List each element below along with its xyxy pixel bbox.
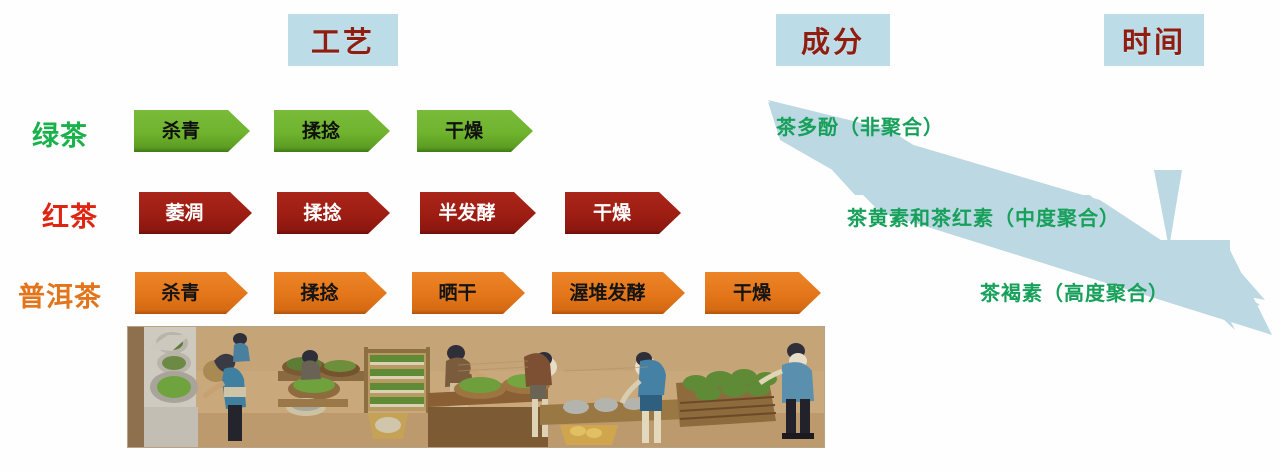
step-black-3-label: 半发酵	[420, 204, 514, 223]
step-black-1-label: 萎凋	[139, 204, 230, 223]
row-label-green-tea: 绿茶	[32, 114, 88, 153]
step-green-1[interactable]: 杀青	[134, 110, 250, 152]
header-time-label: 时间	[1122, 19, 1186, 61]
step-green-3[interactable]: 干燥	[417, 110, 533, 152]
compound-theabrownin-text: 茶褐素（高度聚合）	[980, 281, 1169, 305]
step-puerh-1-label: 杀青	[135, 284, 226, 303]
step-black-2-label: 揉捻	[277, 204, 368, 223]
step-green-1-label: 杀青	[134, 122, 228, 141]
row-label-black-tea-text: 红茶	[42, 202, 98, 233]
step-puerh-5[interactable]: 干燥	[705, 272, 821, 314]
step-green-3-label: 干燥	[417, 122, 511, 141]
step-puerh-3[interactable]: 晒干	[412, 272, 525, 314]
step-green-2[interactable]: 揉捻	[274, 110, 390, 152]
row-label-green-tea-text: 绿茶	[32, 121, 88, 152]
step-black-2[interactable]: 揉捻	[277, 192, 390, 234]
step-puerh-2[interactable]: 揉捻	[274, 272, 387, 314]
header-process-label: 工艺	[311, 19, 375, 61]
header-composition-label: 成分	[801, 19, 865, 61]
compound-polyphenols: 茶多酚（非聚合）	[776, 111, 944, 140]
step-green-2-label: 揉捻	[274, 122, 368, 141]
compound-thearubigins: 茶黄素和茶红素（中度聚合）	[847, 202, 1120, 231]
step-puerh-4-label: 渥堆发酵	[552, 284, 663, 303]
row-label-puerh-tea-text: 普洱茶	[18, 282, 102, 313]
downward-time-arrow	[1152, 170, 1186, 250]
header-composition: 成分	[776, 14, 890, 66]
compound-theabrownin: 茶褐素（高度聚合）	[980, 277, 1169, 306]
step-puerh-2-label: 揉捻	[274, 284, 365, 303]
header-process: 工艺	[288, 14, 398, 66]
row-label-puerh-tea: 普洱茶	[18, 275, 102, 314]
compound-thearubigins-text: 茶黄素和茶红素（中度聚合）	[847, 206, 1120, 230]
step-puerh-5-label: 干燥	[705, 284, 799, 303]
step-black-3[interactable]: 半发酵	[420, 192, 536, 234]
compound-polyphenols-text: 茶多酚（非聚合）	[776, 115, 944, 139]
step-puerh-3-label: 晒干	[412, 284, 503, 303]
step-black-4-label: 干燥	[565, 204, 659, 223]
step-black-4[interactable]: 干燥	[565, 192, 681, 234]
row-label-black-tea: 红茶	[42, 195, 98, 234]
step-black-1[interactable]: 萎凋	[139, 192, 252, 234]
step-puerh-1[interactable]: 杀青	[135, 272, 248, 314]
header-time: 时间	[1104, 14, 1204, 66]
slide-canvas: 工艺 成分 时间 绿茶 杀青 揉捻 干燥 红茶 萎凋 揉捻 半发酵 干燥 普洱茶…	[0, 0, 1280, 472]
tea-processing-illustration	[127, 326, 825, 448]
step-puerh-4[interactable]: 渥堆发酵	[552, 272, 685, 314]
